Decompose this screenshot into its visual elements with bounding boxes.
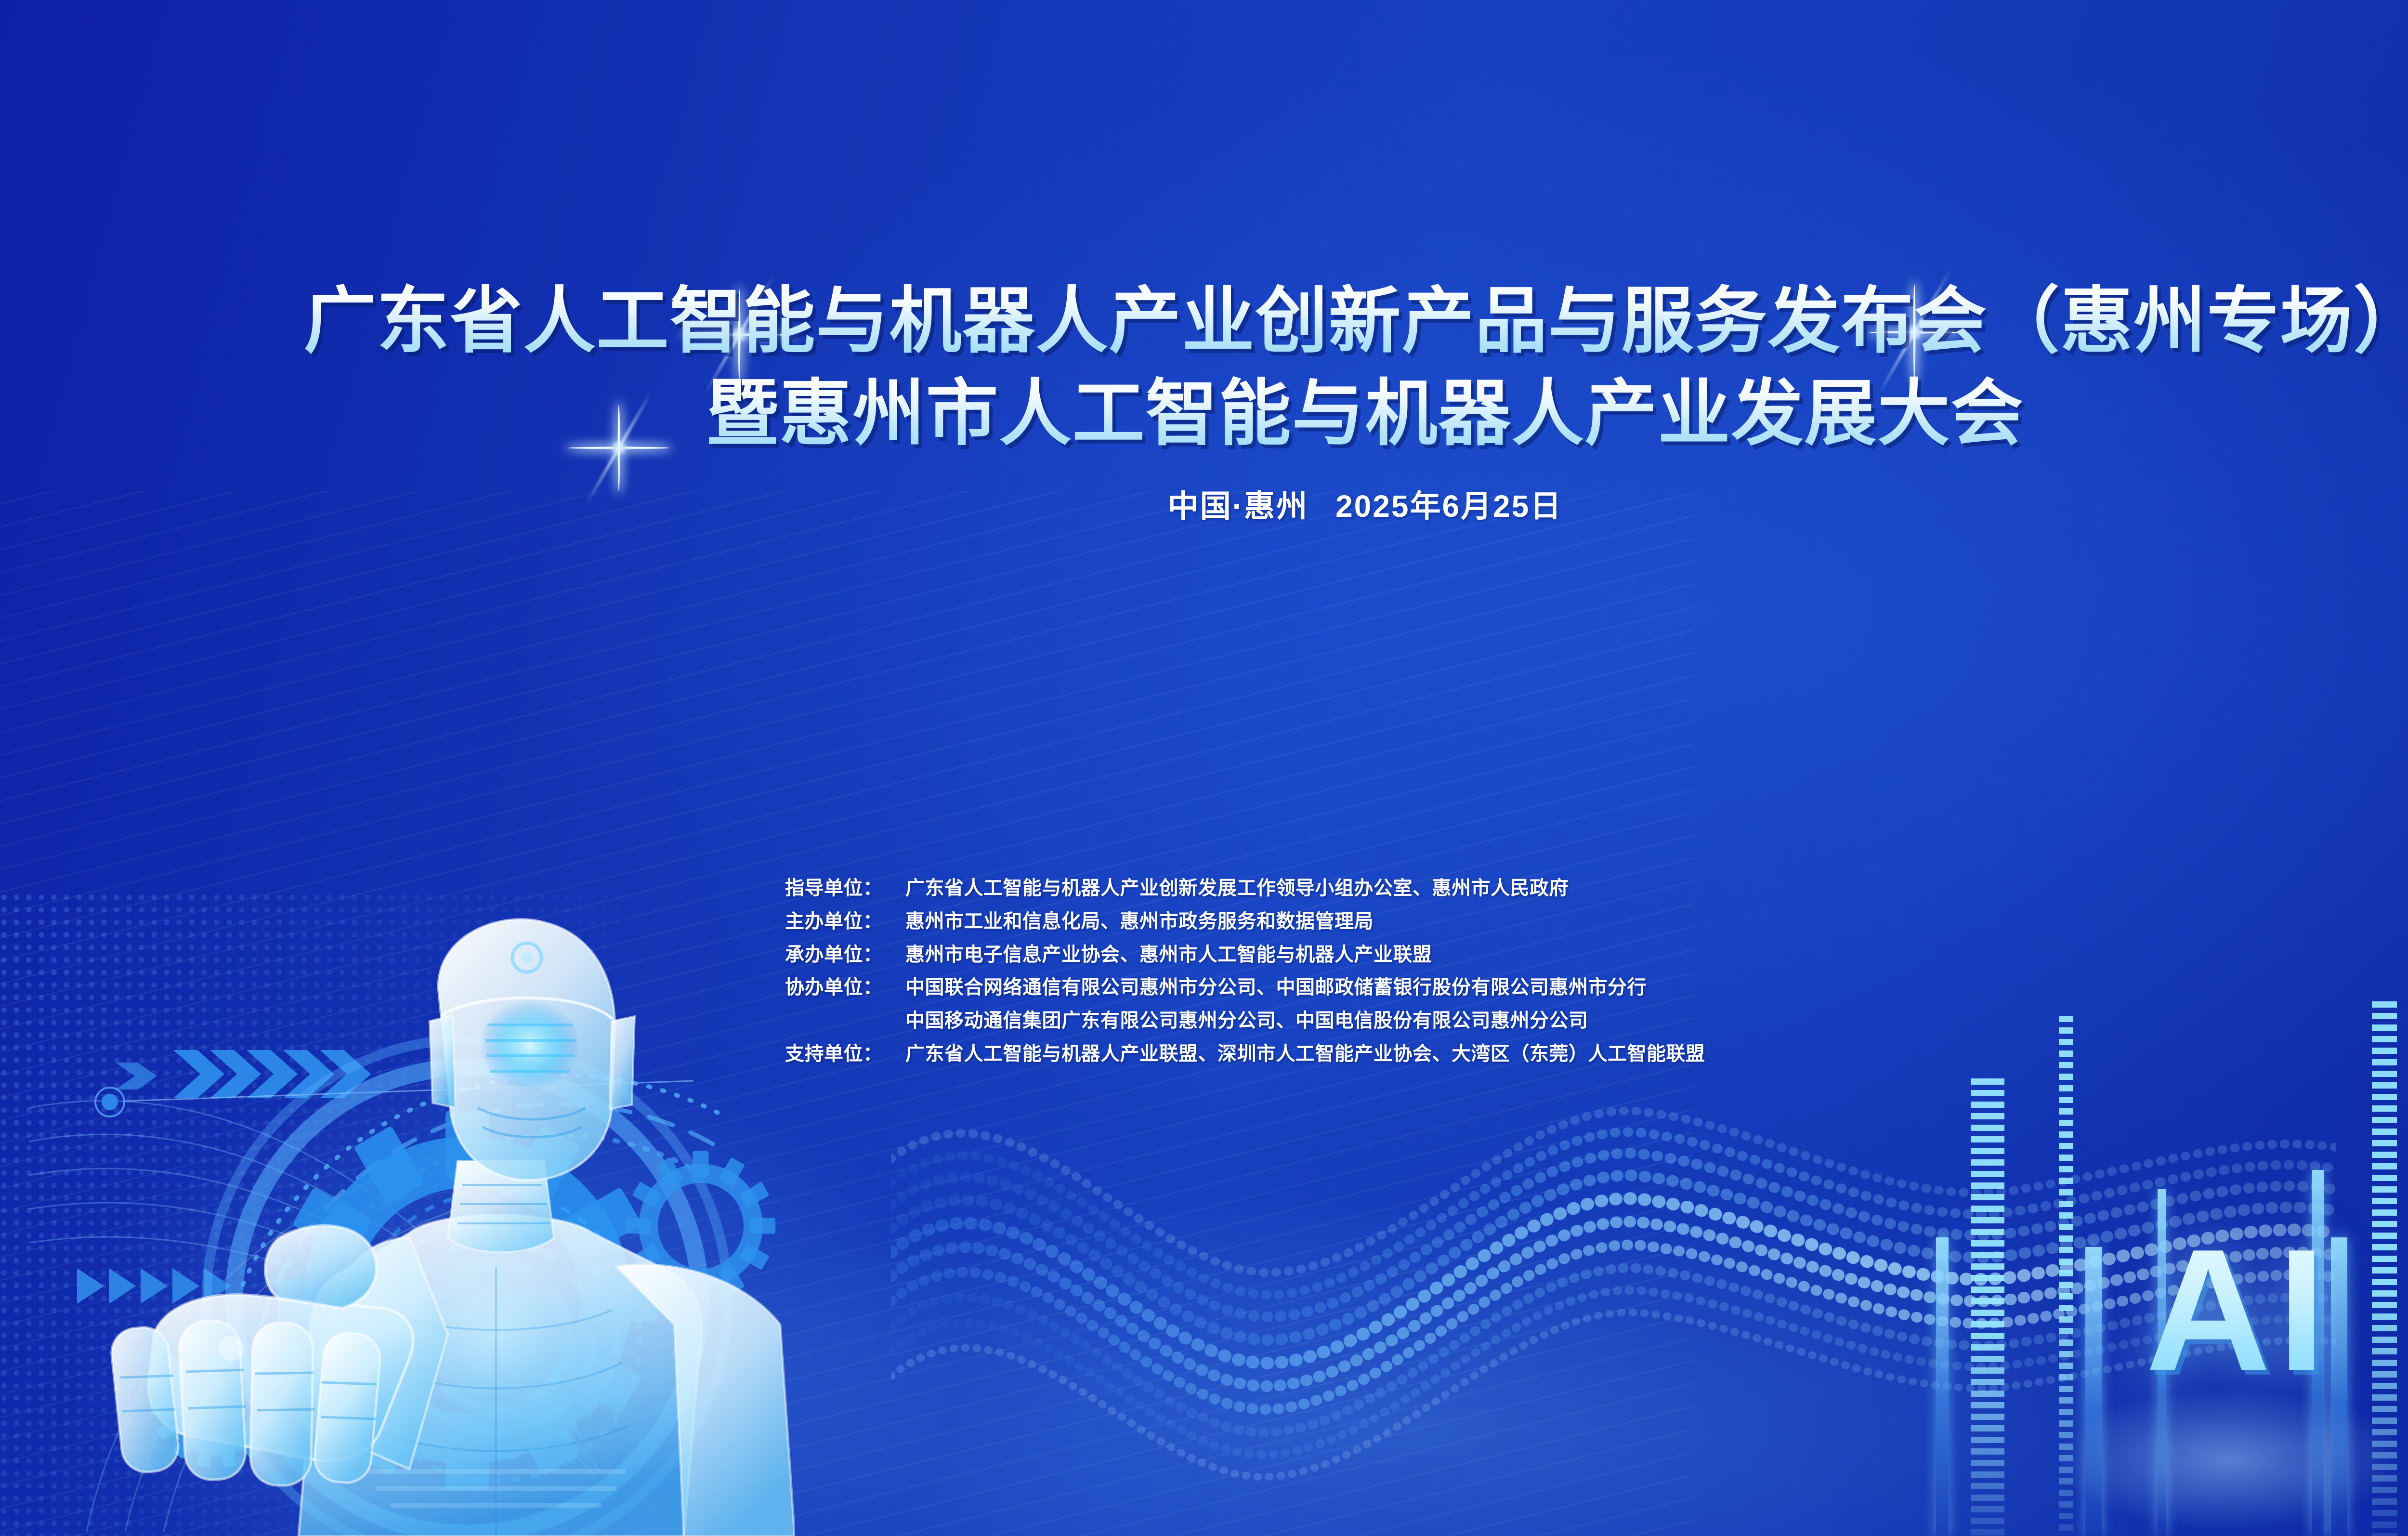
credit-label: 主办单位： bbox=[785, 905, 905, 938]
equalizer-bar bbox=[2331, 1237, 2347, 1536]
credit-value: 中国联合网络通信有限公司惠州市分公司、中国邮政储蓄银行股份有限公司惠州市分行 bbox=[905, 971, 1647, 1004]
gear-icon-right bbox=[621, 1146, 780, 1305]
credit-row: 协办单位：中国联合网络通信有限公司惠州市分公司、中国邮政储蓄银行股份有限公司惠州… bbox=[785, 971, 1705, 1004]
page-title-line-1: 广东省人工智能与机器人产业创新产品与服务发布会（惠州专场） bbox=[0, 275, 2408, 367]
credits-block: 指导单位：广东省人工智能与机器人产业创新发展工作领导小组办公室、惠州市人民政府主… bbox=[785, 872, 1705, 1071]
credit-row: 指导单位：广东省人工智能与机器人产业创新发展工作领导小组办公室、惠州市人民政府 bbox=[785, 872, 1705, 905]
equalizer-bar bbox=[1971, 1078, 2004, 1536]
node-connector-icon bbox=[92, 1074, 698, 1132]
credit-label: 协办单位： bbox=[785, 971, 905, 1004]
credit-row: 支持单位：广东省人工智能与机器人产业联盟、深圳市人工智能产业协会、大湾区（东莞）… bbox=[785, 1037, 1705, 1071]
curved-mesh-lines bbox=[29, 1050, 703, 1532]
chevron-arrows-icon bbox=[116, 1031, 482, 1117]
event-date: 2025年6月25日 bbox=[1335, 489, 1562, 524]
robot-figure bbox=[72, 901, 795, 1536]
credit-label: 指导单位： bbox=[785, 872, 905, 905]
credit-row: 主办单位：惠州市工业和信息化局、惠州市政务服务和数据管理局 bbox=[785, 905, 1705, 938]
gear-icon-small bbox=[144, 1329, 289, 1474]
credit-value: 广东省人工智能与机器人产业创新发展工作领导小组办公室、惠州市人民政府 bbox=[905, 872, 1569, 905]
left-glow bbox=[54, 1045, 982, 1536]
title-block: 广东省人工智能与机器人产业创新产品与服务发布会（惠州专场） 暨惠州市人工智能与机… bbox=[0, 275, 2408, 526]
event-location: 中国·惠州 bbox=[1168, 489, 1309, 524]
credit-value: 惠州市工业和信息化局、惠州市政务服务和数据管理局 bbox=[905, 905, 1374, 938]
triangle-arrows-icon bbox=[77, 1260, 270, 1313]
credit-value: 广东省人工智能与机器人产业联盟、深圳市人工智能产业协会、大湾区（东莞）人工智能联… bbox=[905, 1037, 1705, 1071]
page-title-line-2: 暨惠州市人工智能与机器人产业发展大会 bbox=[0, 367, 2408, 459]
event-subtitle: 中国·惠州2025年6月25日 bbox=[0, 482, 2408, 526]
credit-label: 支持单位： bbox=[785, 1037, 905, 1071]
equalizer-bar bbox=[2059, 1016, 2073, 1536]
bottom-glow bbox=[491, 1198, 2293, 1536]
concentric-arc-rings bbox=[159, 1036, 737, 1517]
dot-grid-texture bbox=[0, 891, 792, 1536]
credit-value: 惠州市电子信息产业协会、惠州市人工智能与机器人产业联盟 bbox=[905, 938, 1432, 971]
ai-logo-text: AI bbox=[2146, 1223, 2332, 1397]
equalizer-bar bbox=[2372, 1001, 2397, 1536]
particle-wave-ribbon bbox=[891, 1026, 2336, 1536]
equalizer-bar bbox=[1936, 1237, 1949, 1536]
credit-row: 承办单位：惠州市电子信息产业协会、惠州市人工智能与机器人产业联盟 bbox=[785, 938, 1705, 971]
credit-label: 承办单位： bbox=[785, 938, 905, 971]
credit-row: 协办单位：中国移动通信集团广东有限公司惠州分公司、中国电信股份有限公司惠州分公司 bbox=[785, 1004, 1705, 1037]
credit-value: 中国移动通信集团广东有限公司惠州分公司、中国电信股份有限公司惠州分公司 bbox=[905, 1004, 1588, 1037]
equalizer-bar bbox=[2085, 1247, 2102, 1536]
gear-icon-large bbox=[270, 1103, 665, 1498]
ai-logo-glow bbox=[2056, 1387, 2403, 1532]
conference-banner: AI 广东省人工智能与机器人产业创新产品与服务发布会（惠州专场） 暨惠州市人工智… bbox=[0, 0, 2408, 1536]
